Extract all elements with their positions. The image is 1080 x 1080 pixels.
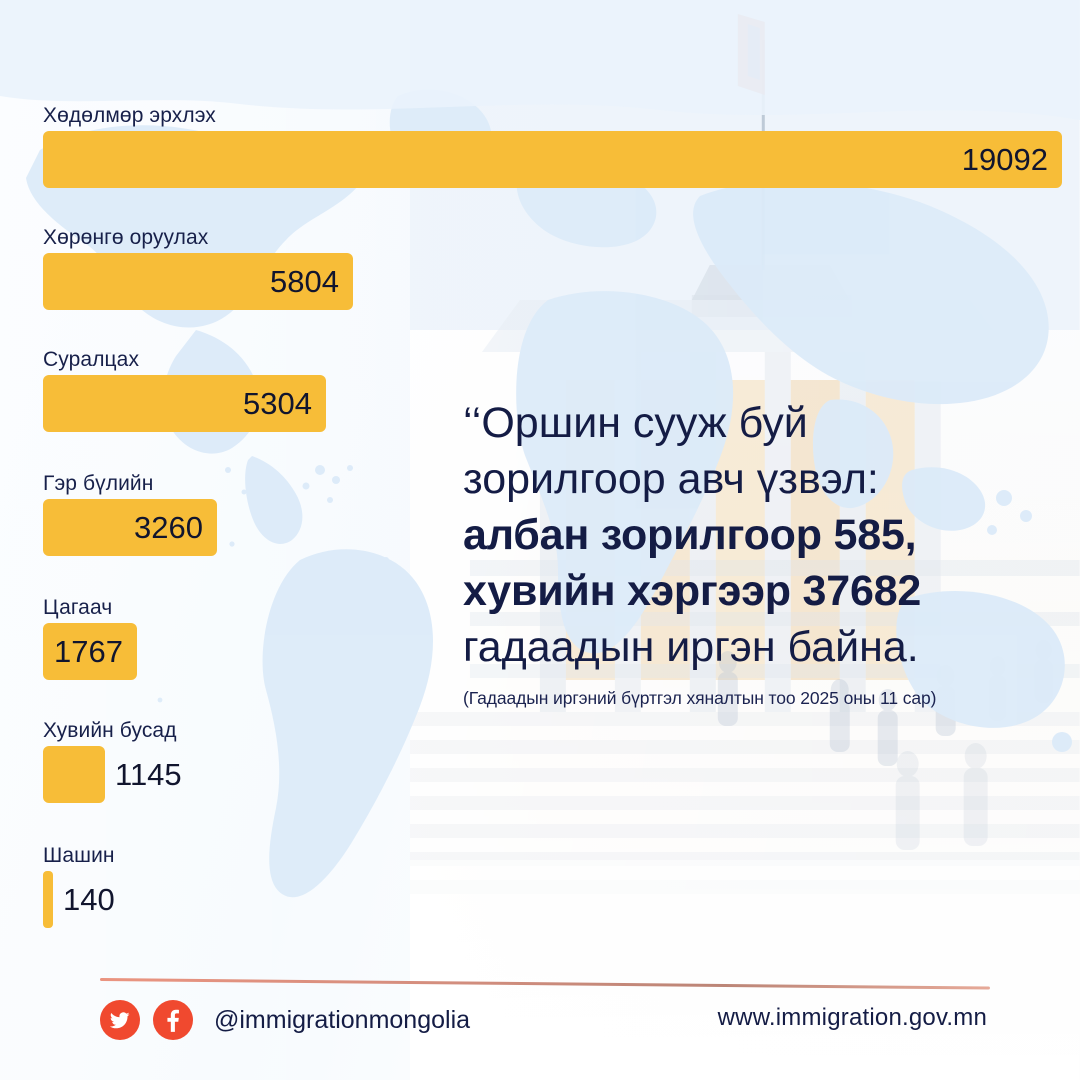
bar-label-3: Гэр бүлийн: [43, 473, 217, 494]
bar-2: 5304: [43, 375, 326, 432]
bar-value-5: 1145: [105, 759, 182, 790]
quote-line-5: гадаадын иргэн байна.: [463, 620, 1033, 676]
bar-group-1: Хөрөнгө оруулах 5804: [43, 227, 353, 310]
facebook-icon[interactable]: [153, 1000, 193, 1040]
quote-line-4: хувийн хэргээр 37682: [463, 564, 1033, 620]
bar-6: [43, 871, 53, 928]
bar-label-4: Цагаач: [43, 597, 137, 618]
bar-1: 5804: [43, 253, 353, 310]
bar-group-2: Суралцах 5304: [43, 349, 326, 432]
bar-row-1: 5804: [43, 253, 353, 310]
bar-group-4: Цагаач 1767: [43, 597, 137, 680]
bar-row-2: 5304: [43, 375, 326, 432]
bar-group-6: Шашин 140: [43, 845, 115, 928]
quote-caption: (Гадаадын иргэний бүртгэл хяналтын тоо 2…: [463, 688, 1033, 709]
bar-value-1: 5804: [270, 266, 353, 297]
social-handle[interactable]: @immigrationmongolia: [214, 1008, 470, 1033]
bar-row-6: 140: [43, 871, 115, 928]
quote-line-3: албан зорилгоор 585,: [463, 508, 1033, 564]
bar-0: 19092: [43, 131, 1062, 188]
quote-block: ‘‘Оршин сууж буй зорилгоор авч үзвэл: ал…: [463, 396, 1033, 709]
quote-line-2: зорилгоор авч үзвэл:: [463, 452, 1033, 508]
bar-row-3: 3260: [43, 499, 217, 556]
bar-4: 1767: [43, 623, 137, 680]
footer: @immigrationmongolia www.immigration.gov…: [0, 970, 1080, 1080]
footer-divider: [100, 978, 990, 990]
bar-row-5: 1145: [43, 746, 182, 803]
bar-value-2: 5304: [243, 388, 326, 419]
bar-group-0: Хөдөлмөр эрхлэх 19092: [43, 105, 1062, 188]
bar-value-0: 19092: [962, 144, 1062, 175]
bar-label-6: Шашин: [43, 845, 115, 866]
twitter-icon[interactable]: [100, 1000, 140, 1040]
bar-label-1: Хөрөнгө оруулах: [43, 227, 353, 248]
bar-group-5: Хувийн бусад 1145: [43, 720, 182, 803]
bar-row-4: 1767: [43, 623, 137, 680]
bar-value-3: 3260: [134, 512, 217, 543]
bar-label-0: Хөдөлмөр эрхлэх: [43, 105, 1062, 126]
bar-label-5: Хувийн бусад: [43, 720, 182, 741]
bar-value-6: 140: [53, 884, 115, 915]
bar-3: 3260: [43, 499, 217, 556]
website-url[interactable]: www.immigration.gov.mn: [718, 1006, 987, 1030]
bar-group-3: Гэр бүлийн 3260: [43, 473, 217, 556]
bar-value-4: 1767: [54, 636, 137, 667]
quote-line-1: ‘‘Оршин сууж буй: [463, 396, 1033, 452]
bar-label-2: Суралцах: [43, 349, 326, 370]
bar-row-0: 19092: [43, 131, 1062, 188]
bar-5: [43, 746, 105, 803]
footer-social-group: @immigrationmongolia: [100, 1000, 470, 1040]
